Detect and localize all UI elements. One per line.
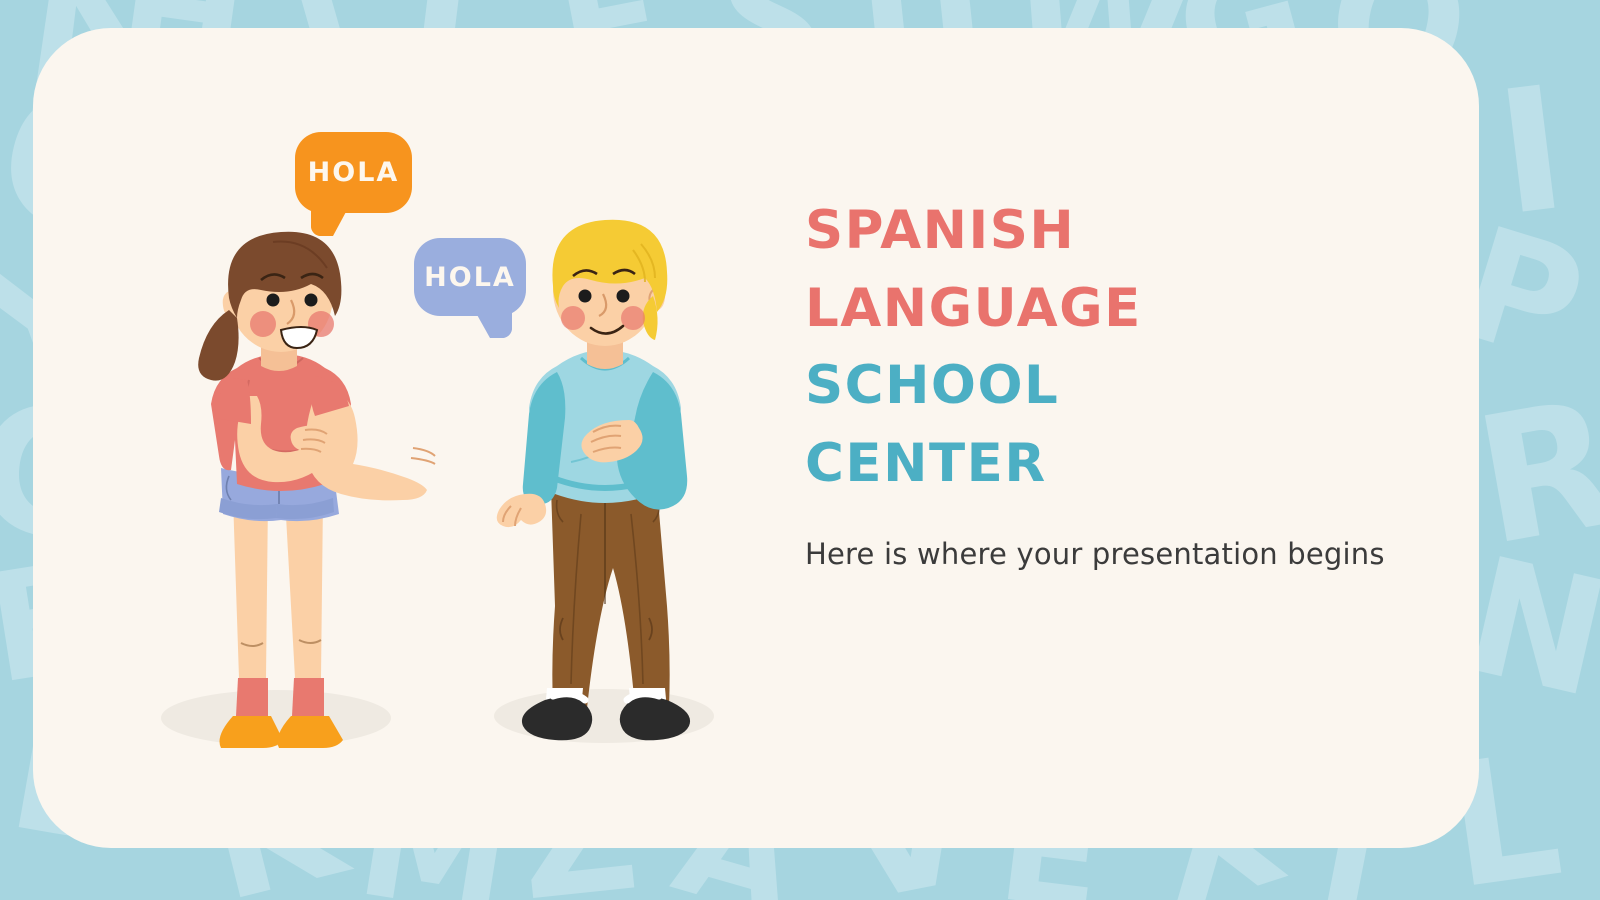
boy-left-eye	[579, 290, 592, 303]
boy-pants	[551, 488, 670, 708]
speech-bubble-girl-tail	[311, 210, 347, 236]
speech-bubble-boy-text: HOLA	[424, 262, 516, 293]
illustration-two-children-greeting: HOLA HOLA	[33, 28, 833, 848]
speech-bubble-boy: HOLA	[414, 238, 526, 316]
presentation-slide: AHOYCBDKMZAVEXTLNRPIQGWUSFJT	[0, 0, 1600, 900]
girl-left-sock	[236, 678, 268, 716]
girl-character	[198, 232, 435, 748]
speech-bubble-boy-body: HOLA	[414, 238, 526, 316]
children-illustration-svg	[33, 28, 833, 848]
speech-bubble-girl-text: HOLA	[308, 157, 400, 188]
girl-left-leg	[233, 498, 268, 678]
girl-left-eye	[267, 294, 280, 307]
title-line-2: Language	[805, 261, 1445, 339]
boy-right-cheek-blush	[621, 306, 645, 330]
speech-bubble-boy-tail	[476, 313, 512, 338]
speech-bubble-girl-body: HOLA	[295, 132, 412, 213]
speech-bubble-girl: HOLA	[295, 132, 412, 213]
girl-smile	[281, 327, 317, 348]
girl-right-leg	[285, 498, 323, 678]
background-letter: R	[1468, 389, 1600, 559]
title-line-3: School	[805, 338, 1445, 416]
boy-left-cheek-blush	[561, 306, 585, 330]
boy-left-hand	[497, 494, 546, 527]
slide-card: HOLA HOLA Spanish Language School Center…	[33, 28, 1479, 848]
subtitle: Here is where your presentation begins	[805, 537, 1445, 571]
boy-right-eye	[617, 290, 630, 303]
girl-right-sock	[292, 678, 324, 716]
title-block: Spanish Language School Center Here is w…	[805, 183, 1445, 571]
girl-extended-hand-fingers-1	[413, 448, 435, 456]
girl-extended-hand-fingers-2	[411, 458, 435, 464]
title-line-1: Spanish	[805, 183, 1445, 261]
girl-left-cheek-blush	[250, 311, 276, 337]
title-line-4: Center	[805, 416, 1445, 494]
girl-hair-ponytail	[198, 310, 238, 381]
girl-right-eye	[305, 294, 318, 307]
